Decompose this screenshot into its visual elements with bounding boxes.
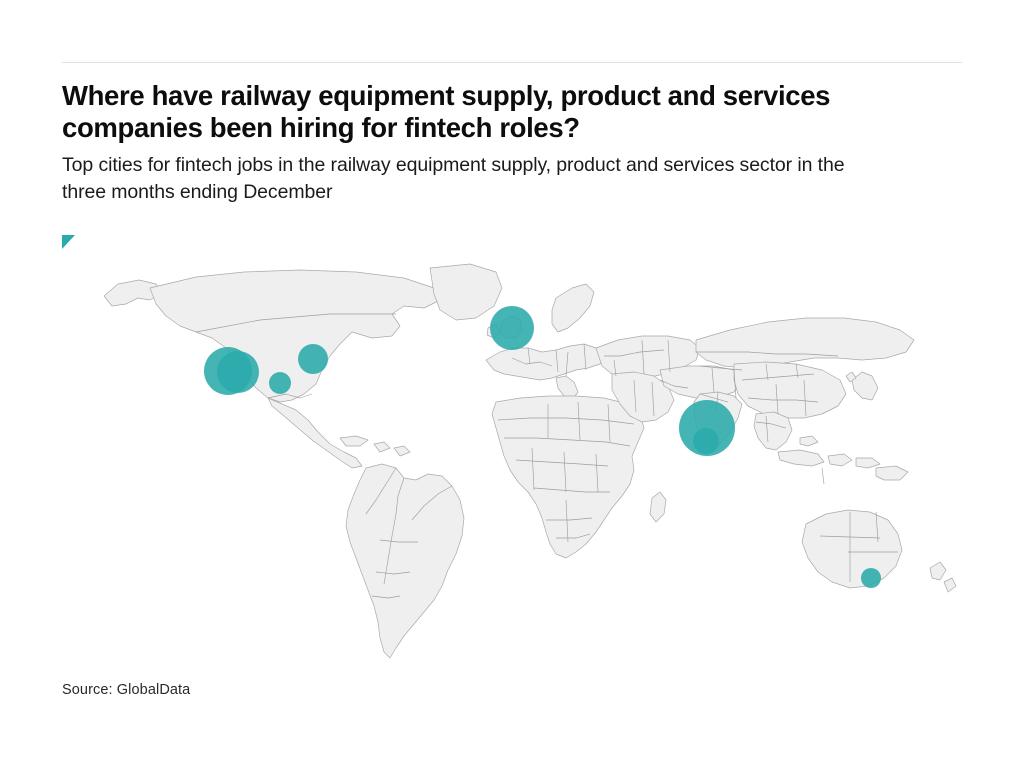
chart-page: Where have railway equipment supply, pro… — [0, 0, 1024, 768]
map-bubble[interactable] — [693, 428, 719, 454]
pennant-icon — [62, 235, 75, 250]
map-bubble[interactable] — [217, 351, 259, 393]
page-subtitle: Top cities for fintech jobs in the railw… — [62, 152, 892, 206]
title-block: Where have railway equipment supply, pro… — [62, 80, 892, 206]
map-canvas — [0, 252, 1024, 662]
map-bubble[interactable] — [269, 372, 291, 394]
map-bubble[interactable] — [490, 306, 534, 350]
header-divider — [62, 62, 962, 63]
world-bubble-map — [0, 252, 1024, 662]
page-title: Where have railway equipment supply, pro… — [62, 80, 872, 144]
map-bubble[interactable] — [861, 568, 881, 588]
source-label: Source: GlobalData — [62, 681, 190, 699]
pennant-glyph — [62, 235, 75, 250]
map-bubble[interactable] — [298, 344, 328, 374]
